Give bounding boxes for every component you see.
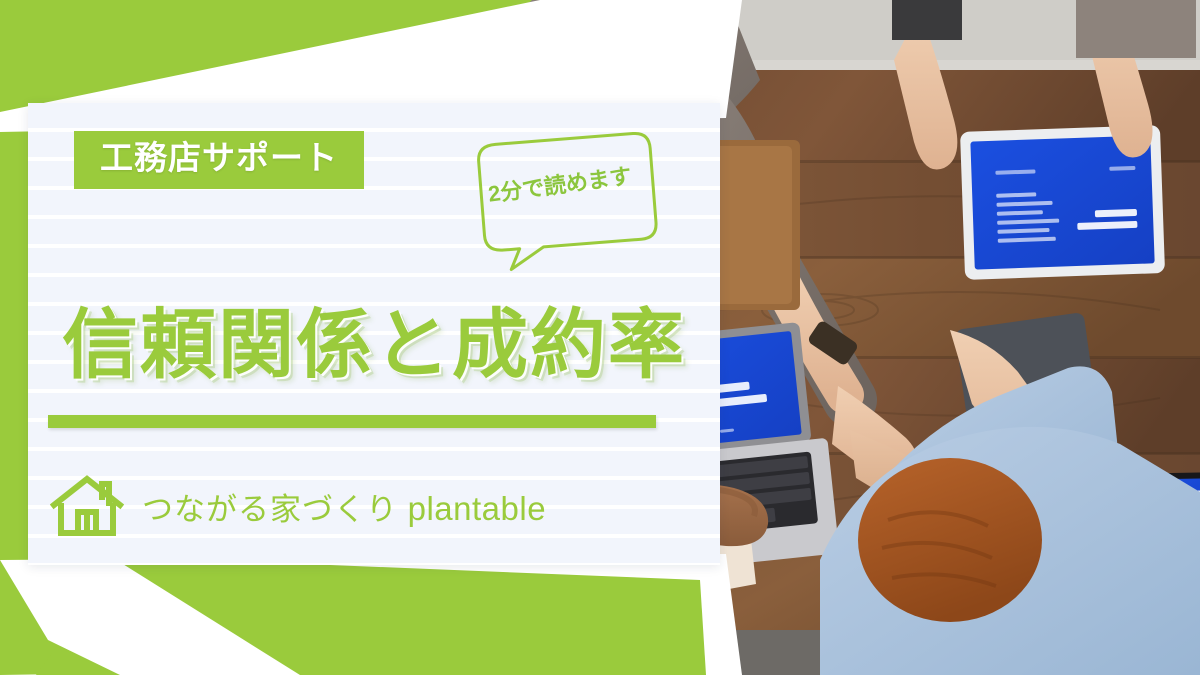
brand-name: plantable bbox=[408, 490, 546, 527]
slide-canvas: 工務店サポート 2分で読めます 信頼関係と成約率 bbox=[0, 0, 1200, 675]
category-badge: 工務店サポート bbox=[74, 131, 364, 189]
house-icon bbox=[50, 475, 124, 537]
reading-time-bubble: 2分で読めます bbox=[461, 125, 671, 275]
page-title: 信頼関係と成約率 bbox=[62, 308, 686, 384]
brand-row: つながる家づくり plantable bbox=[50, 475, 546, 537]
brand-tagline-jp: つながる家づくり bbox=[142, 492, 398, 527]
brand-tagline: つながる家づくり plantable bbox=[142, 484, 546, 529]
green-divider bbox=[48, 415, 656, 428]
content-card: 工務店サポート 2分で読めます 信頼関係と成約率 bbox=[28, 103, 720, 565]
